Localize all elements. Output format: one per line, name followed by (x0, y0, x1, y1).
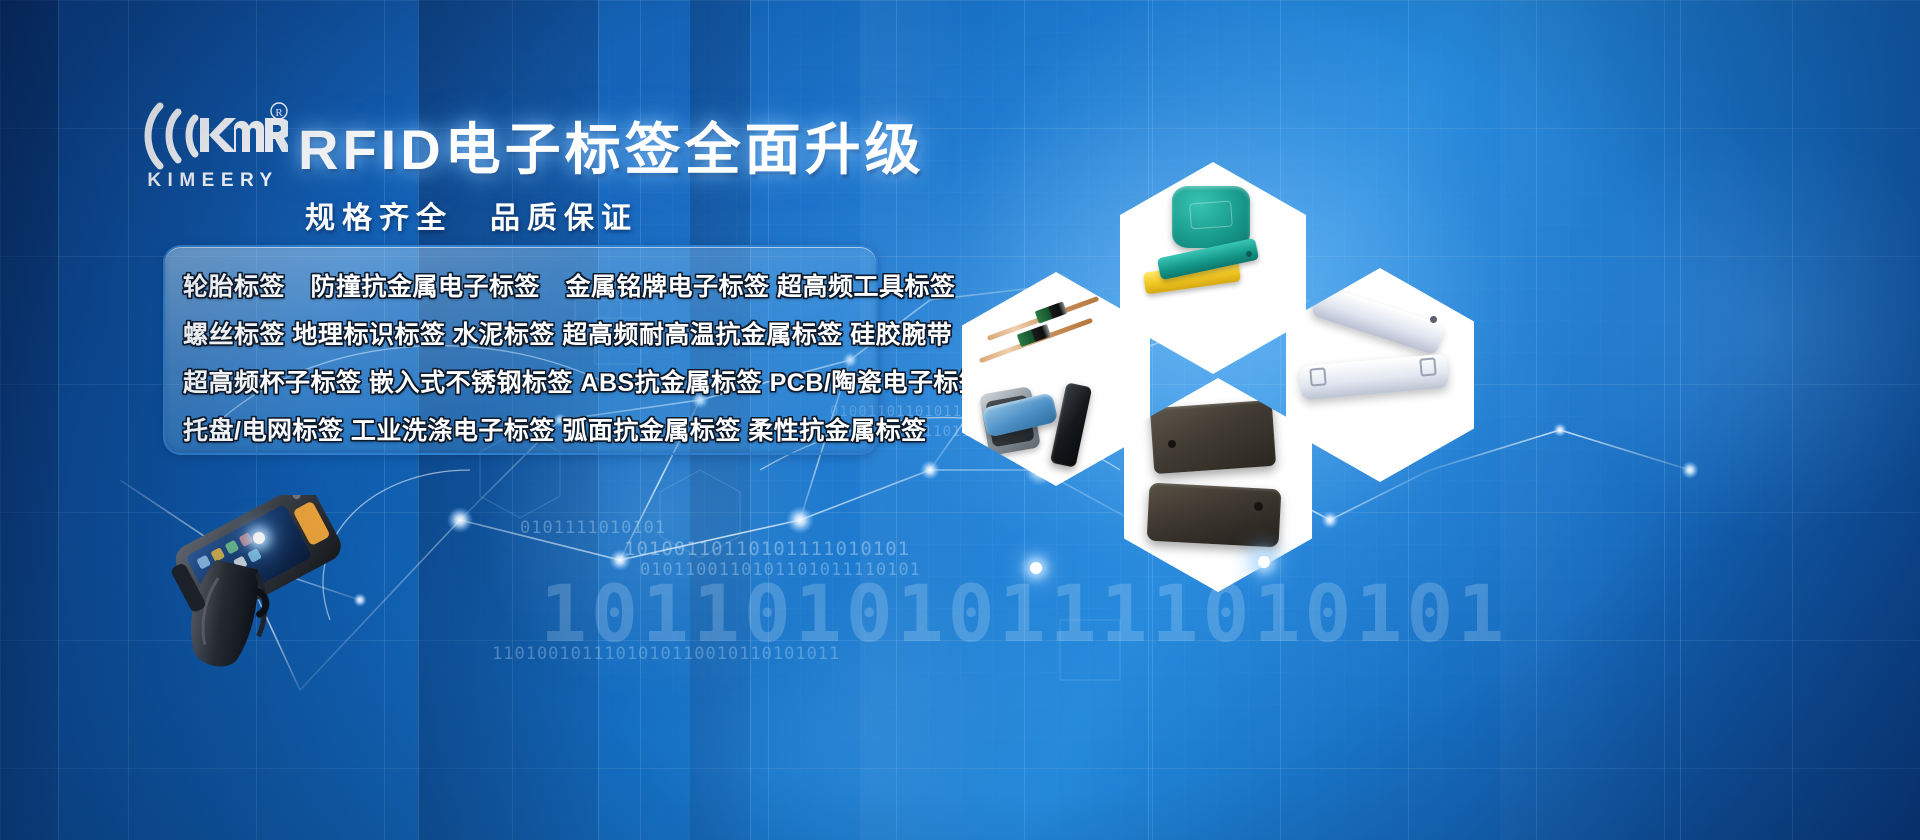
page-title: RFID电子标签全面升级 (298, 105, 925, 186)
disc-tag-marking (1189, 201, 1233, 230)
product-category-list: 轮胎标签 防撞抗金属电子标签 金属铭牌电子标签 超高频工具标签 螺丝标签 地理标… (163, 245, 878, 455)
handheld-rfid-reader (150, 495, 380, 675)
binary-decor-3: 10100110110101111010101 (624, 538, 910, 560)
kimeery-logo: R KIMEERY (138, 98, 288, 198)
dark-anti-metal-tag-hole-2 (1254, 502, 1263, 511)
rfid-promo-banner: 01001101101011110101011 0100110110101111… (0, 0, 1920, 840)
white-flexible-tag-slot-right (1419, 357, 1437, 376)
binary-decor-large: 1011010101111010101 (540, 570, 1508, 660)
hex-link-node-b (1030, 562, 1042, 574)
reader-scan-node (253, 532, 265, 544)
list-item: 超高频杯子标签 嵌入式不锈钢标签 ABS抗金属标签 PCB/陶瓷电子标签 (165, 359, 876, 407)
glass-tube-tag-chip (1035, 301, 1068, 323)
page-subtitle: 规格齐全 品质保证 (305, 193, 638, 237)
hex-link-node-a (1258, 556, 1270, 568)
black-ceramic-tag (1050, 382, 1092, 468)
dark-anti-metal-tag-large (1150, 400, 1276, 474)
svg-text:R: R (275, 107, 283, 119)
dark-anti-metal-tag-small (1147, 483, 1282, 548)
logo-wordmark: KIMEERY (138, 170, 288, 192)
list-item: 轮胎标签 防撞抗金属电子标签 金属铭牌电子标签 超高频工具标签 (165, 263, 876, 311)
list-item: 托盘/电网标签 工业洗涤电子标签 弧面抗金属标签 柔性抗金属标签 (165, 407, 876, 455)
dark-anti-metal-tag-hole (1168, 440, 1176, 448)
white-flexible-tag-slot-left (1309, 367, 1327, 386)
binary-decor-4: 0101111010101 (520, 518, 666, 538)
list-item: 螺丝标签 地理标识标签 水泥标签 超高频耐高温抗金属标签 硅胶腕带 (165, 311, 876, 359)
kimeery-wave-logo-icon: R (138, 98, 288, 172)
